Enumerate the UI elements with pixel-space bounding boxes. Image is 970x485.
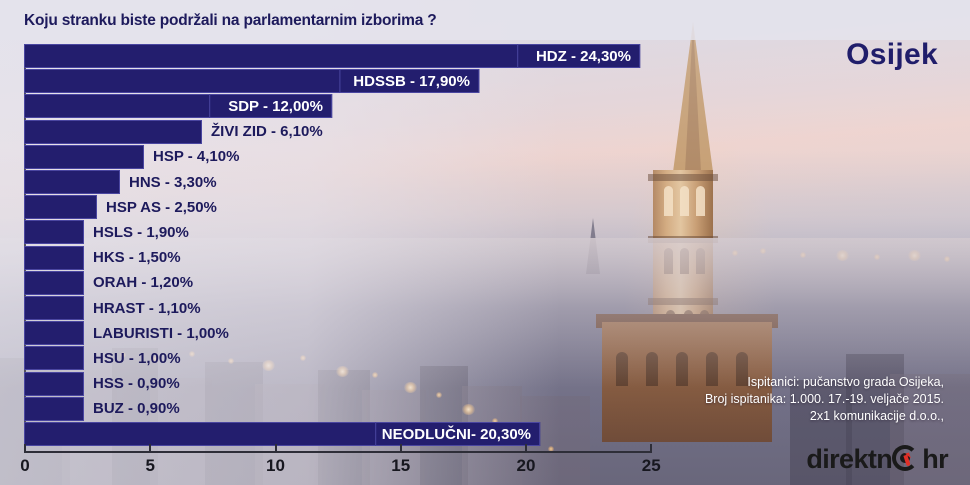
bar-row[interactable]: HNS - 3,30%: [24, 170, 754, 194]
at-sign-icon: [892, 441, 922, 468]
bar-row[interactable]: HRAST - 1,10%: [24, 296, 754, 320]
bar-row[interactable]: HSU - 1,00%: [24, 346, 754, 370]
direktno-hr-logo[interactable]: direktn hr: [806, 441, 948, 475]
x-tick-label: 25: [642, 456, 661, 476]
bar-row[interactable]: LABURISTI - 1,00%: [24, 321, 754, 345]
x-tick-label: 5: [146, 456, 155, 476]
sample-size-line: Broj ispitanika: 1.000. 17.-19. veljače …: [705, 391, 944, 408]
bar-value-label: LABURISTI - 1,00%: [87, 321, 229, 345]
x-tick-mark: [650, 444, 652, 453]
bar: [24, 271, 84, 295]
bar: [24, 372, 84, 396]
bar: [24, 397, 84, 421]
bar-value-label: HSU - 1,00%: [87, 346, 181, 370]
x-tick-label: 20: [517, 456, 536, 476]
bar: [24, 170, 120, 194]
bar-row[interactable]: ŽIVI ZID - 6,10%: [24, 120, 754, 144]
bar-row[interactable]: ORAH - 1,20%: [24, 271, 754, 295]
x-tick-label: 10: [266, 456, 285, 476]
x-tick-mark: [149, 444, 151, 453]
bar-value-label: HNS - 3,30%: [123, 170, 217, 194]
x-tick-mark: [400, 444, 402, 453]
bar-value-label: HDSSB - 17,90%: [339, 69, 479, 93]
x-tick-mark: [525, 444, 527, 453]
x-tick-label: 0: [20, 456, 29, 476]
bar-value-label: HSP AS - 2,50%: [100, 195, 217, 219]
bar-value-label: BUZ - 0,90%: [87, 397, 180, 421]
bar: [24, 296, 84, 320]
poll-infographic: Koju stranku biste podržali na parlament…: [0, 0, 970, 485]
bar-value-label: HSS - 0,90%: [87, 372, 180, 396]
bar-row[interactable]: HDZ - 24,30%: [24, 44, 754, 68]
bar: [24, 321, 84, 345]
agency-line: 2x1 komunikacije d.o.o.,: [705, 408, 944, 425]
x-tick-mark: [24, 444, 26, 453]
bar: [24, 120, 202, 144]
survey-methodology-note: Ispitanici: pučanstvo grada Osijeka, Bro…: [705, 374, 944, 425]
bar-value-label: HKS - 1,50%: [87, 246, 181, 270]
city-label: Osijek: [846, 38, 938, 72]
logo-text-post: hr: [922, 444, 948, 475]
bar: [24, 346, 84, 370]
bar-value-label: HDZ - 24,30%: [517, 44, 640, 68]
bar: [24, 246, 84, 270]
bar-value-label: HSP - 4,10%: [147, 145, 239, 169]
bar-value-label: SDP - 12,00%: [209, 94, 332, 118]
bar: [24, 220, 84, 244]
logo-text-pre: direktn: [806, 444, 892, 475]
bar-value-label: HSLS - 1,90%: [87, 220, 189, 244]
bar-row[interactable]: NEODLUČNI- 20,30%: [24, 422, 754, 446]
bar-row[interactable]: HSLS - 1,90%: [24, 220, 754, 244]
x-tick-label: 15: [391, 456, 410, 476]
bar-value-label: ŽIVI ZID - 6,10%: [205, 120, 323, 144]
respondents-line: Ispitanici: pučanstvo grada Osijeka,: [705, 374, 944, 391]
page-title: Koju stranku biste podržali na parlament…: [24, 12, 437, 30]
bar: [24, 145, 144, 169]
bar-value-label: NEODLUČNI- 20,30%: [375, 422, 540, 446]
x-axis-line: [24, 451, 651, 453]
bar-value-label: ORAH - 1,20%: [87, 271, 193, 295]
bar-row[interactable]: HSP - 4,10%: [24, 145, 754, 169]
bar-row[interactable]: HSP AS - 2,50%: [24, 195, 754, 219]
bar-row[interactable]: BUZ - 0,90%: [24, 397, 754, 421]
bar-row[interactable]: HSS - 0,90%: [24, 372, 754, 396]
x-tick-mark: [275, 444, 277, 453]
bar: [24, 195, 97, 219]
bar-chart-plot: HDZ - 24,30%HDSSB - 17,90%SDP - 12,00%ŽI…: [24, 44, 754, 452]
bar-row[interactable]: SDP - 12,00%: [24, 94, 754, 118]
bar-value-label: HRAST - 1,10%: [87, 296, 201, 320]
bar-row[interactable]: HKS - 1,50%: [24, 246, 754, 270]
bar-row[interactable]: HDSSB - 17,90%: [24, 69, 754, 93]
